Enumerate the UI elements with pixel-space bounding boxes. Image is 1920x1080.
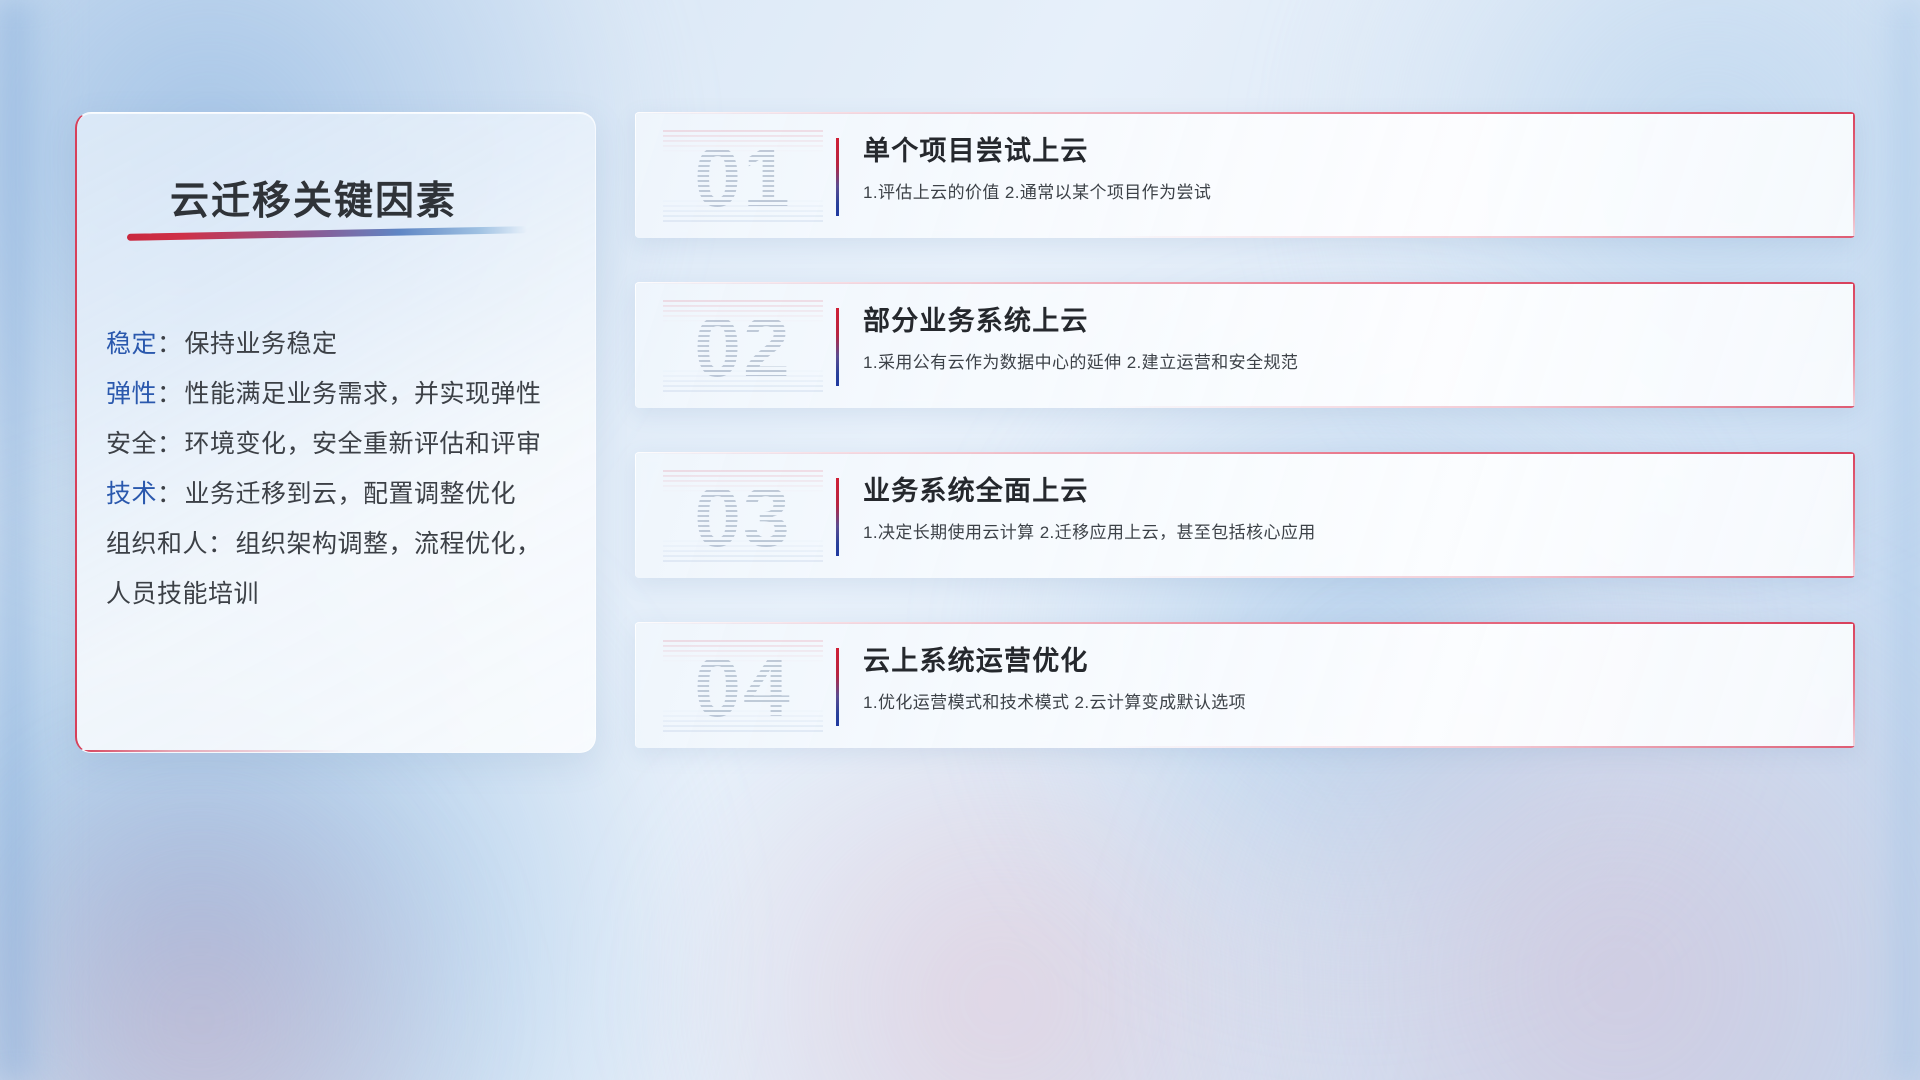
stage-title: 云上系统运营优化 (863, 642, 1815, 680)
stage-title: 业务系统全面上云 (863, 472, 1815, 510)
factor-value: 环境变化，安全重新评估和评审 (185, 424, 542, 460)
card-bottom-accent (635, 236, 1855, 238)
factor-separator: ： (208, 524, 234, 560)
factor-separator: ： (157, 324, 183, 360)
stage-text-block: 部分业务系统上云1.采用公有云作为数据中心的延伸 2.建立运营和安全规范 (863, 302, 1815, 375)
stage-card[interactable]: 04云上系统运营优化1.优化运营模式和技术模式 2.云计算变成默认选项 (635, 622, 1855, 748)
slide-stage: 云迁移关键因素 稳定：保持业务稳定弹性：性能满足业务需求，并实现弹性安全：环境变… (0, 0, 1920, 1080)
factor-row: 弹性：性能满足业务需求，并实现弹性 (106, 367, 581, 417)
stage-number-watermark: 03 (663, 470, 823, 564)
adoption-stages-list: 01单个项目尝试上云1.评估上云的价值 2.通常以某个项目作为尝试02部分业务系… (635, 112, 1855, 792)
vertical-divider (836, 138, 839, 216)
stage-card[interactable]: 01单个项目尝试上云1.评估上云的价值 2.通常以某个项目作为尝试 (635, 112, 1855, 238)
factor-value: 业务迁移到云，配置调整优化 (185, 474, 517, 510)
factor-label: 稳定 (106, 324, 157, 360)
stage-text-block: 业务系统全面上云1.决定长期使用云计算 2.迁移应用上云，甚至包括核心应用 (863, 472, 1815, 545)
stage-detail: 1.决定长期使用云计算 2.迁移应用上云，甚至包括核心应用 (863, 521, 1815, 545)
factor-row: 组织和人：组织架构调整，流程优化， (106, 517, 581, 567)
card-left-accent (635, 112, 636, 238)
card-bottom-accent (635, 746, 1855, 748)
card-bottom-accent (635, 576, 1855, 578)
card-top-accent (635, 452, 1855, 454)
page-title: 云迁移关键因素 (170, 170, 457, 226)
stage-text-block: 云上系统运营优化1.优化运营模式和技术模式 2.云计算变成默认选项 (863, 642, 1815, 715)
vertical-divider (836, 308, 839, 386)
stage-text-block: 单个项目尝试上云1.评估上云的价值 2.通常以某个项目作为尝试 (863, 132, 1815, 205)
factor-row: 稳定：保持业务稳定 (106, 317, 581, 367)
factor-row: 技术：业务迁移到云，配置调整优化 (106, 467, 581, 517)
factor-row: 安全：环境变化，安全重新评估和评审 (106, 417, 581, 467)
stage-title: 单个项目尝试上云 (863, 132, 1815, 170)
vertical-divider (836, 478, 839, 556)
factor-label: 安全 (106, 424, 157, 460)
card-right-accent (1853, 622, 1855, 748)
stage-number-watermark: 02 (663, 300, 823, 394)
stage-number-watermark: 04 (663, 640, 823, 734)
card-top-accent (635, 282, 1855, 284)
factor-continuation-row: 人员技能培训 (106, 567, 581, 617)
key-factors-panel: 云迁移关键因素 稳定：保持业务稳定弹性：性能满足业务需求，并实现弹性安全：环境变… (75, 112, 596, 753)
factor-list: 稳定：保持业务稳定弹性：性能满足业务需求，并实现弹性安全：环境变化，安全重新评估… (106, 317, 581, 617)
card-left-accent (635, 282, 636, 408)
card-bottom-accent (635, 406, 1855, 408)
vertical-divider (836, 648, 839, 726)
factor-label: 组织和人 (106, 524, 208, 560)
stage-detail: 1.采用公有云作为数据中心的延伸 2.建立运营和安全规范 (863, 351, 1815, 375)
card-top-accent (635, 622, 1855, 624)
factor-separator: ： (157, 424, 183, 460)
factor-value: 组织架构调整，流程优化， (236, 524, 542, 560)
card-right-accent (1853, 282, 1855, 408)
stage-card[interactable]: 02部分业务系统上云1.采用公有云作为数据中心的延伸 2.建立运营和安全规范 (635, 282, 1855, 408)
stage-detail: 1.优化运营模式和技术模式 2.云计算变成默认选项 (863, 691, 1815, 715)
factor-separator: ： (157, 474, 183, 510)
card-right-accent (1853, 112, 1855, 238)
card-left-accent (635, 622, 636, 748)
card-top-accent (635, 112, 1855, 114)
stage-number-watermark: 01 (663, 130, 823, 224)
factor-value: 性能满足业务需求，并实现弹性 (185, 374, 542, 410)
stage-card[interactable]: 03业务系统全面上云1.决定长期使用云计算 2.迁移应用上云，甚至包括核心应用 (635, 452, 1855, 578)
factor-value: 保持业务稳定 (185, 324, 338, 360)
card-right-accent (1853, 452, 1855, 578)
factor-label: 技术 (106, 474, 157, 510)
factor-label: 弹性 (106, 374, 157, 410)
stage-title: 部分业务系统上云 (863, 302, 1815, 340)
stage-detail: 1.评估上云的价值 2.通常以某个项目作为尝试 (863, 181, 1815, 205)
factor-separator: ： (157, 374, 183, 410)
title-underline-accent (127, 226, 527, 241)
card-left-accent (635, 452, 636, 578)
